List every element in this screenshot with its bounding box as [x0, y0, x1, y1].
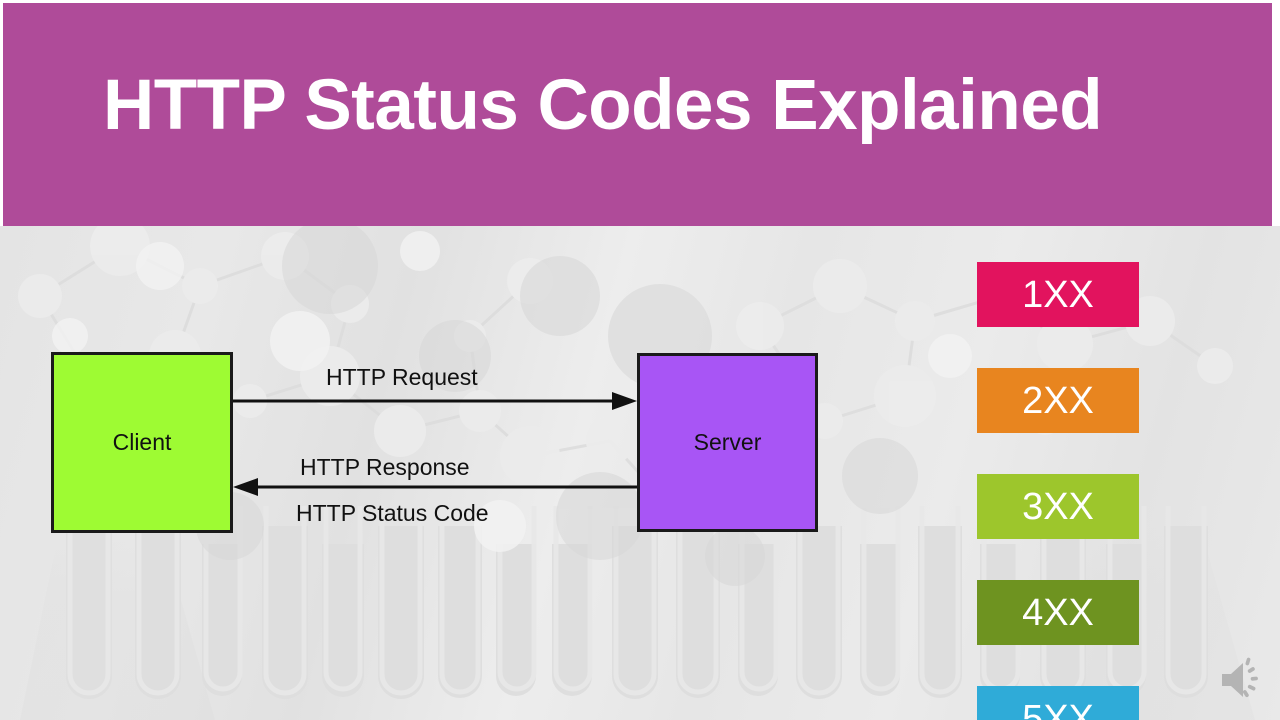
status-badge-4xx-label: 4XX: [1022, 594, 1094, 632]
status-badge-1xx: 1XX: [977, 262, 1139, 327]
client-node: Client: [51, 352, 233, 533]
status-badge-5xx-label: 5XX: [1022, 700, 1094, 720]
status-badge-2xx: 2XX: [977, 368, 1139, 433]
speaker-volume-icon[interactable]: [1212, 652, 1268, 708]
status-badge-2xx-label: 2XX: [1022, 382, 1094, 420]
slide: HTTP Status Codes Explained: [0, 0, 1280, 720]
http-request-label: HTTP Request: [326, 364, 478, 391]
status-badge-3xx: 3XX: [977, 474, 1139, 539]
status-code-legend: 1XX 2XX 3XX 4XX 5XX: [977, 262, 1139, 720]
server-node-label: Server: [694, 429, 762, 456]
status-badge-4xx: 4XX: [977, 580, 1139, 645]
page-title: HTTP Status Codes Explained: [103, 59, 1102, 153]
request-arrow: [233, 392, 637, 410]
http-response-label: HTTP Response: [300, 454, 470, 481]
server-node: Server: [637, 353, 818, 532]
status-badge-5xx: 5XX: [977, 686, 1139, 720]
http-status-code-label: HTTP Status Code: [296, 500, 489, 527]
status-badge-3xx-label: 3XX: [1022, 488, 1094, 526]
client-node-label: Client: [113, 429, 172, 456]
status-badge-1xx-label: 1XX: [1022, 276, 1094, 314]
title-banner: HTTP Status Codes Explained: [3, 3, 1272, 226]
